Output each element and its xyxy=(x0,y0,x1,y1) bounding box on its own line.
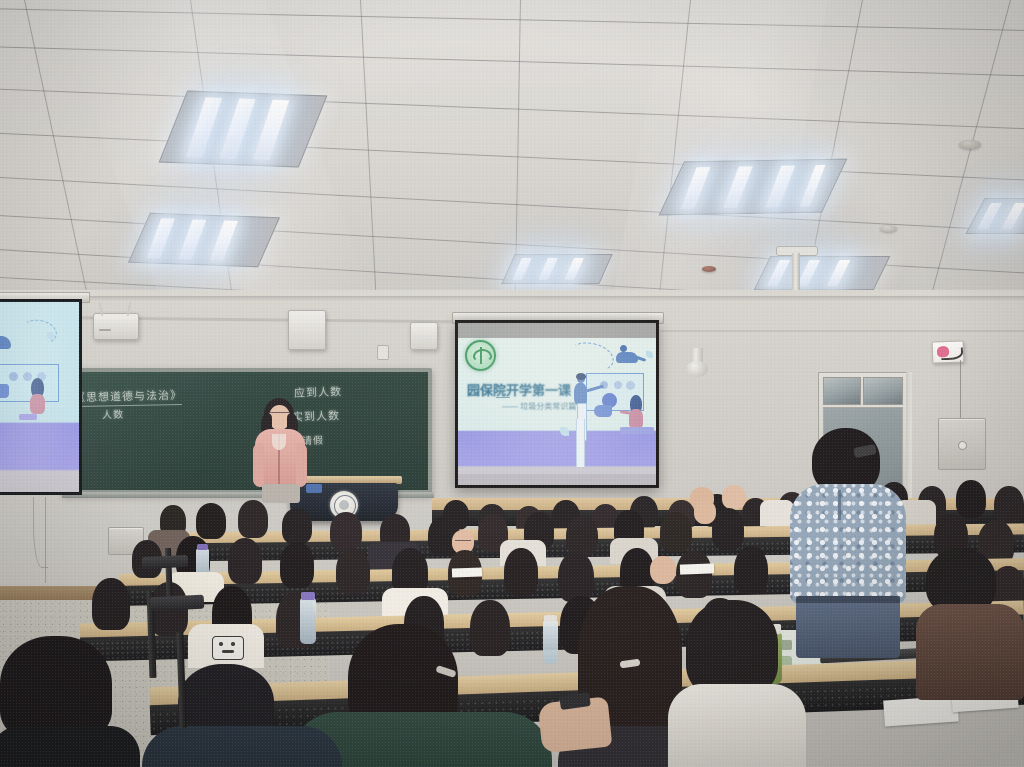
student-head xyxy=(92,578,130,630)
slide-content: 园保院开学第一课 —— 垃圾分类常识篇 xyxy=(458,323,656,485)
side-projection-screen xyxy=(0,299,82,495)
instructor xyxy=(252,398,308,503)
dome-security-camera-icon xyxy=(685,348,709,378)
slide-content xyxy=(0,302,79,492)
student-head xyxy=(504,548,538,596)
glasses-icon xyxy=(455,540,471,544)
smoke-detector-icon xyxy=(880,225,897,232)
student-head xyxy=(238,500,268,538)
foreground-student-white xyxy=(672,600,802,767)
student-head xyxy=(734,546,768,594)
student-torso xyxy=(142,726,342,767)
wireless-access-point-icon xyxy=(93,313,139,340)
student-face xyxy=(722,485,746,509)
student-head xyxy=(282,508,312,544)
jeans xyxy=(796,596,900,658)
tshirt-graphic xyxy=(212,636,244,660)
wall-speaker-icon xyxy=(410,322,438,350)
student-head xyxy=(660,512,692,552)
student-head xyxy=(336,548,370,594)
electrical-panel xyxy=(938,418,986,470)
wall-ceiling-seam xyxy=(0,296,1024,301)
student-head xyxy=(712,508,744,550)
paper-sheet[interactable] xyxy=(680,563,714,574)
student-face xyxy=(694,500,716,524)
student-torso xyxy=(0,726,140,767)
student-hair xyxy=(0,636,112,740)
foreground-student-left xyxy=(0,636,130,767)
student-torso xyxy=(668,684,806,767)
wall-outlet-plate xyxy=(377,345,389,360)
ceiling-light-fixture xyxy=(501,254,612,284)
seated-student-right xyxy=(916,548,1024,748)
student-head xyxy=(280,542,314,588)
bottle-cap xyxy=(301,592,315,600)
ceiling-light-fixture xyxy=(128,213,280,268)
bottle-cap xyxy=(197,544,208,550)
student-head xyxy=(566,516,598,556)
wall-cable xyxy=(960,360,961,418)
student-head xyxy=(228,538,262,584)
student-face xyxy=(650,556,676,584)
seat[interactable] xyxy=(142,555,189,569)
bottle-cap xyxy=(544,615,557,622)
student-head xyxy=(330,512,362,550)
wall-speaker-icon xyxy=(288,310,326,350)
student-head xyxy=(196,503,226,539)
student-torso xyxy=(760,500,794,526)
student-hair xyxy=(686,600,778,696)
student-head xyxy=(994,486,1024,524)
ceiling-light-fixture xyxy=(659,159,848,216)
seat[interactable] xyxy=(150,595,205,612)
student-head xyxy=(956,480,986,518)
floral-blouse xyxy=(790,484,906,604)
smoke-detector-icon xyxy=(702,266,716,272)
main-projection-screen: 园保院开学第一课 —— 垃圾分类常识篇 xyxy=(455,320,659,488)
classroom-photo: 《思想道德与法治》 人数 应到人数 实到人数 请假 园保院开学第一课 —— 垃圾… xyxy=(0,0,1024,767)
paper-sheet[interactable] xyxy=(452,567,482,577)
smoke-detector-icon xyxy=(959,140,981,149)
desk-item xyxy=(306,484,322,493)
wall-trim-line xyxy=(660,330,1024,332)
ceiling-light-fixture xyxy=(159,91,328,168)
student-torso xyxy=(916,604,1024,700)
standing-student xyxy=(790,428,910,688)
screen-cord xyxy=(33,497,48,568)
